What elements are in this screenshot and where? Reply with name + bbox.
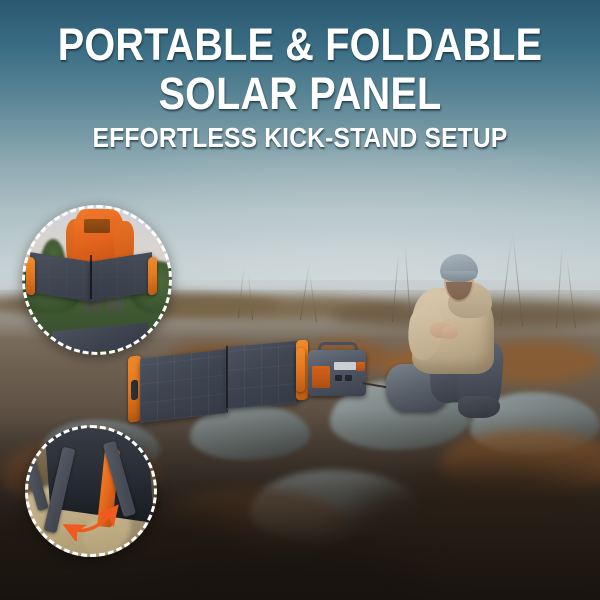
callout-kickstand: [25, 425, 157, 557]
power-station-front-panel: [312, 366, 330, 388]
beanie-brim: [441, 271, 477, 279]
panel-handle-slot: [131, 380, 138, 401]
power-station-display: [334, 362, 356, 370]
callout-carry: [22, 205, 172, 355]
callout-carry-panel-grid: [32, 257, 152, 297]
power-station-side-accent: [356, 362, 365, 371]
hand: [442, 326, 458, 339]
panel-seam: [226, 346, 228, 408]
kickstand-adjust-arrow-icon: [61, 499, 125, 541]
panel-connector-strip: [296, 348, 305, 393]
marketing-banner: PORTABLE & FOLDABLE SOLAR PANEL EFFORTLE…: [0, 0, 600, 600]
panel-cell-grid: [227, 341, 299, 409]
callout-carry-shirt-logo: [84, 219, 110, 233]
panel-segment: [227, 341, 299, 409]
power-station-port: [335, 375, 342, 381]
portable-power-station: [306, 342, 368, 398]
power-station-port: [345, 375, 352, 381]
